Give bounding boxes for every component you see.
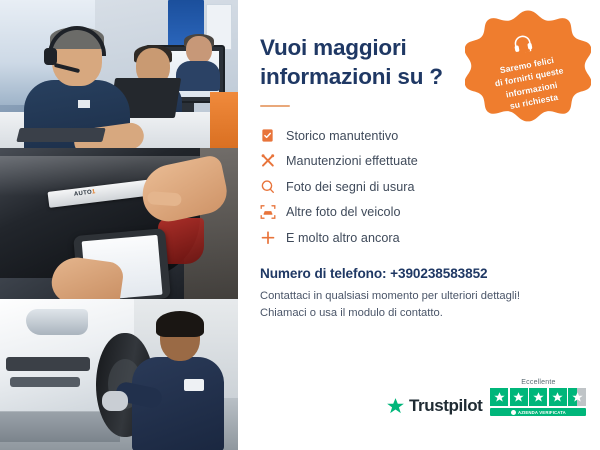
- badge-text: Saremo felici di fornirti queste informa…: [492, 53, 570, 114]
- contact-hint-line-2: Chiamaci o usa il modulo di contatto.: [260, 305, 578, 322]
- contact-hint-line-1: Contattaci in qualsiasi momento per ulte…: [260, 288, 578, 305]
- star-full: [510, 388, 528, 406]
- car-grille-lower: [10, 377, 80, 387]
- list-item-label: Storico manutentivo: [286, 129, 398, 143]
- list-item-label: E molto altro ancora: [286, 231, 400, 245]
- feature-list: Storico manutentivo Manutenzioni effettu…: [260, 123, 578, 251]
- phone-number[interactable]: Numero di telefono: +390238583852: [260, 266, 578, 281]
- car-grille-upper: [6, 357, 90, 371]
- list-item: Manutenzioni effettuate: [260, 149, 578, 175]
- headset-icon: [511, 33, 535, 59]
- trustpilot-logo: Trustpilot: [386, 396, 482, 416]
- list-item: E molto altro ancora: [260, 225, 578, 251]
- page-title: Vuoi maggiori informazioni su ?: [260, 34, 475, 92]
- content-panel: Vuoi maggiori informazioni su ? Storico …: [238, 0, 600, 450]
- status-badge: Saremo felici di fornirti queste informa…: [465, 8, 591, 134]
- list-item-label: Foto dei segni di usura: [286, 180, 415, 194]
- verified-check-icon: [511, 410, 516, 415]
- agent3-body: [176, 61, 220, 91]
- promo-banner: AUTO1 V: [0, 0, 600, 450]
- plus-icon: [260, 230, 286, 246]
- mechanic: [132, 315, 224, 450]
- background-agent-3: [176, 36, 220, 82]
- checklist-icon: [260, 128, 286, 143]
- mechanic-hair: [156, 311, 204, 337]
- car-scan-icon: [260, 204, 286, 220]
- mechanic-badge: [184, 379, 204, 391]
- agent3-head: [186, 36, 212, 64]
- agent-name-badge: [78, 100, 90, 108]
- list-item: Foto dei segni di usura: [260, 174, 578, 200]
- tools-cross-icon: [260, 153, 286, 169]
- trustpilot-rating: Eccellente AZIENDA VERIFICATA: [490, 379, 586, 416]
- car-headlight: [26, 309, 88, 335]
- star-full: [549, 388, 567, 406]
- verified-badge: AZIENDA VERIFICATA: [490, 408, 586, 416]
- trustpilot-name: Trustpilot: [409, 396, 482, 416]
- keyboard: [16, 128, 105, 142]
- list-item-label: Manutenzioni effettuate: [286, 154, 418, 168]
- title-divider: [260, 105, 290, 108]
- list-item-label: Altre foto del veicolo: [286, 205, 401, 219]
- car-inspection-tablet-photo: AUTO1: [0, 148, 238, 299]
- star-rating: [490, 388, 586, 406]
- rating-word: Eccellente: [521, 379, 555, 386]
- magnifier-icon: [260, 179, 286, 195]
- inspector-finger: [147, 191, 182, 206]
- verified-label: AZIENDA VERIFICATA: [518, 410, 566, 415]
- star-full: [490, 388, 508, 406]
- trustpilot-star-icon: [386, 397, 405, 416]
- call-center-agents-photo: [0, 0, 238, 148]
- trustpilot-widget[interactable]: Trustpilot Eccellente AZIENDA VERIFICATA: [386, 379, 586, 416]
- photo-column: AUTO1: [0, 0, 238, 450]
- orange-foreground-object: [210, 92, 238, 148]
- ruler-brand-text: AUTO1: [74, 189, 96, 198]
- mechanic-glove: [102, 391, 128, 411]
- star-full: [529, 388, 547, 406]
- list-item: Altre foto del veicolo: [260, 200, 578, 226]
- mechanic-wheel-photo: [0, 299, 238, 450]
- star-half: [568, 388, 586, 406]
